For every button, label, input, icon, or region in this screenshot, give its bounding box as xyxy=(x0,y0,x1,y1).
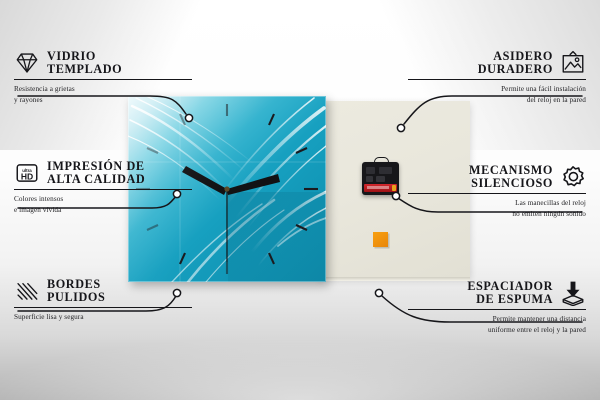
mechanism-detail xyxy=(366,176,373,182)
feature-title-line2: TEMPLADO xyxy=(47,63,122,76)
feature-title-line2: DURADERO xyxy=(478,63,553,76)
mechanism-hanger-hook xyxy=(374,157,389,166)
feature-subtitle-line2: e imagen vívida xyxy=(14,205,192,215)
feature-subtitle-line1: Resistencia a grietas xyxy=(14,84,192,94)
feature-subtitle-line1: Colores intensos xyxy=(14,194,192,204)
feature-vidrio-templado: VIDRIO TEMPLADO Resistencia a grietas y … xyxy=(14,50,192,105)
feature-header: ESPACIADOR DE ESPUMA xyxy=(408,280,586,306)
feature-espaciador-de-espuma: ESPACIADOR DE ESPUMA Permite mantener un… xyxy=(408,280,586,335)
feature-subtitle-line2: del reloj en la pared xyxy=(408,95,586,105)
feature-mecanismo-silencioso: MECANISMO SILENCIOSO Las manecillas del … xyxy=(408,164,586,219)
clock-mechanism xyxy=(362,162,399,195)
feature-subtitle-line2: y rayones xyxy=(14,95,192,105)
mechanism-detail xyxy=(376,176,385,182)
feature-subtitle-line2: no emiten ningún sonido xyxy=(408,209,586,219)
feature-subtitle-line1: Superficie lisa y segura xyxy=(14,312,192,322)
feature-header: ASIDERO DURADERO xyxy=(408,50,586,76)
feature-title-line2: SILENCIOSO xyxy=(469,177,553,190)
gear-icon xyxy=(560,164,586,190)
feature-titles: BORDES PULIDOS xyxy=(47,278,105,304)
mechanism-detail xyxy=(366,167,375,174)
feature-header: VIDRIO TEMPLADO xyxy=(14,50,192,76)
feature-titles: ESPACIADOR DE ESPUMA xyxy=(467,280,553,306)
feature-subtitle-line2: uniforme entre el reloj y la pared xyxy=(408,325,586,335)
ultra-hd-icon: ultra HD xyxy=(14,160,40,186)
feature-titles: ASIDERO DURADERO xyxy=(478,50,553,76)
feature-titles: IMPRESIÓN DE ALTA CALIDAD xyxy=(47,160,145,186)
feature-titles: MECANISMO SILENCIOSO xyxy=(469,164,553,190)
battery-label xyxy=(367,186,389,189)
foam-spacer-arrow-icon xyxy=(560,280,586,306)
connector-dot xyxy=(375,289,382,296)
feature-rule xyxy=(408,193,586,194)
mechanism-detail xyxy=(379,167,392,174)
feature-rule xyxy=(408,309,586,310)
feature-bordes-pulidos: BORDES PULIDOS Superficie lisa y segura xyxy=(14,278,192,323)
feature-rule xyxy=(14,79,192,80)
polished-edges-icon xyxy=(14,278,40,304)
battery-positive-tip xyxy=(392,185,396,191)
feature-subtitle-line1: Permite una fácil instalación xyxy=(408,84,586,94)
ultra-hd-icon-big-text: HD xyxy=(21,172,33,182)
picture-frame-hook-icon xyxy=(560,50,586,76)
feature-rule xyxy=(408,79,586,80)
feature-subtitle-line1: Las manecillas del reloj xyxy=(408,198,586,208)
feature-header: MECANISMO SILENCIOSO xyxy=(408,164,586,190)
feature-header: BORDES PULIDOS xyxy=(14,278,192,304)
aa-battery xyxy=(364,184,397,192)
feature-title-line2: DE ESPUMA xyxy=(467,293,553,306)
feature-subtitle-line1: Permite mantener una distancia xyxy=(408,314,586,324)
feature-title-line2: ALTA CALIDAD xyxy=(47,173,145,186)
feature-header: ultra HD IMPRESIÓN DE ALTA CALIDAD xyxy=(14,160,192,186)
feature-impresion-alta-calidad: ultra HD IMPRESIÓN DE ALTA CALIDAD Color… xyxy=(14,160,192,215)
foam-spacer-pad xyxy=(373,232,388,247)
diamond-icon xyxy=(14,50,40,76)
feature-rule xyxy=(14,189,192,190)
infographic-canvas: VIDRIO TEMPLADO Resistencia a grietas y … xyxy=(0,0,600,400)
feature-title-line2: PULIDOS xyxy=(47,291,105,304)
feature-asidero-duradero: ASIDERO DURADERO Permite una fácil insta… xyxy=(408,50,586,105)
feature-titles: VIDRIO TEMPLADO xyxy=(47,50,122,76)
feature-rule xyxy=(14,307,192,308)
